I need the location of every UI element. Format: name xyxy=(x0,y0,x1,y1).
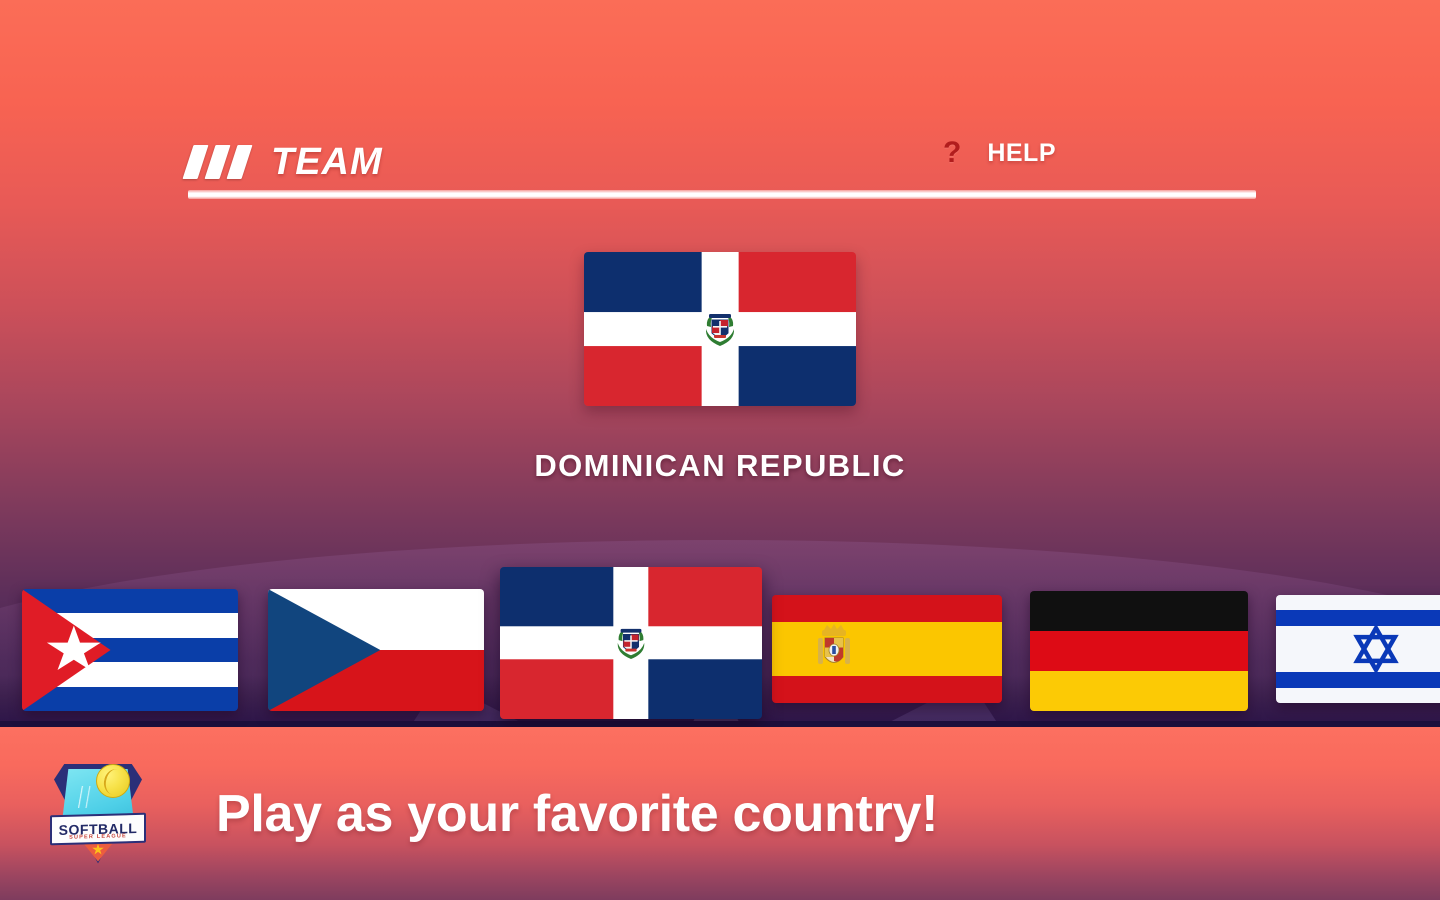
carousel-item-spain[interactable] xyxy=(772,595,1002,703)
triple-slash-icon xyxy=(188,145,247,179)
flag-cuba xyxy=(22,589,238,711)
softball-icon xyxy=(96,764,130,798)
flag-israel xyxy=(1276,595,1440,703)
app-screen: TEAM ? HELP xyxy=(0,0,1440,900)
flag-spain xyxy=(772,595,1002,703)
logo-ribbon: SOFTBALL SUPER LEAGUE xyxy=(50,812,146,845)
question-mark-icon: ? xyxy=(943,138,961,168)
carousel-item-israel[interactable] xyxy=(1276,595,1440,703)
featured-country-name: DOMINICAN REPUBLIC xyxy=(534,448,905,484)
flag-dominican-republic xyxy=(584,252,856,406)
team-select-screen: TEAM ? HELP xyxy=(0,0,1440,727)
carousel-item-germany[interactable] xyxy=(1030,591,1248,711)
featured-country: DOMINICAN REPUBLIC xyxy=(0,252,1440,484)
country-carousel[interactable] xyxy=(0,565,1440,725)
help-label: HELP xyxy=(987,139,1056,168)
header-divider xyxy=(188,190,1256,199)
softball-badge-logo: SOFTBALL SUPER LEAGUE xyxy=(48,758,148,870)
carousel-item-dominican-republic[interactable] xyxy=(500,567,762,719)
coat-of-arms-icon xyxy=(614,624,648,662)
carousel-item-czech-republic[interactable] xyxy=(268,589,484,711)
flag-dominican-republic xyxy=(500,567,762,719)
promo-banner: SOFTBALL SUPER LEAGUE Play as your favor… xyxy=(0,727,1440,900)
flag-czech-republic xyxy=(268,589,484,711)
star-of-david-icon xyxy=(1332,624,1420,674)
page-title: TEAM xyxy=(271,141,383,184)
flag-germany xyxy=(1030,591,1248,711)
coat-of-arms-icon xyxy=(814,624,854,674)
screen-header: TEAM ? HELP xyxy=(188,132,1256,204)
carousel-item-cuba[interactable] xyxy=(22,589,238,711)
help-button[interactable]: ? HELP xyxy=(943,138,1056,168)
motion-trail-icon xyxy=(68,786,98,808)
coat-of-arms-icon xyxy=(702,309,738,349)
banner-tagline: Play as your favorite country! xyxy=(216,784,938,844)
